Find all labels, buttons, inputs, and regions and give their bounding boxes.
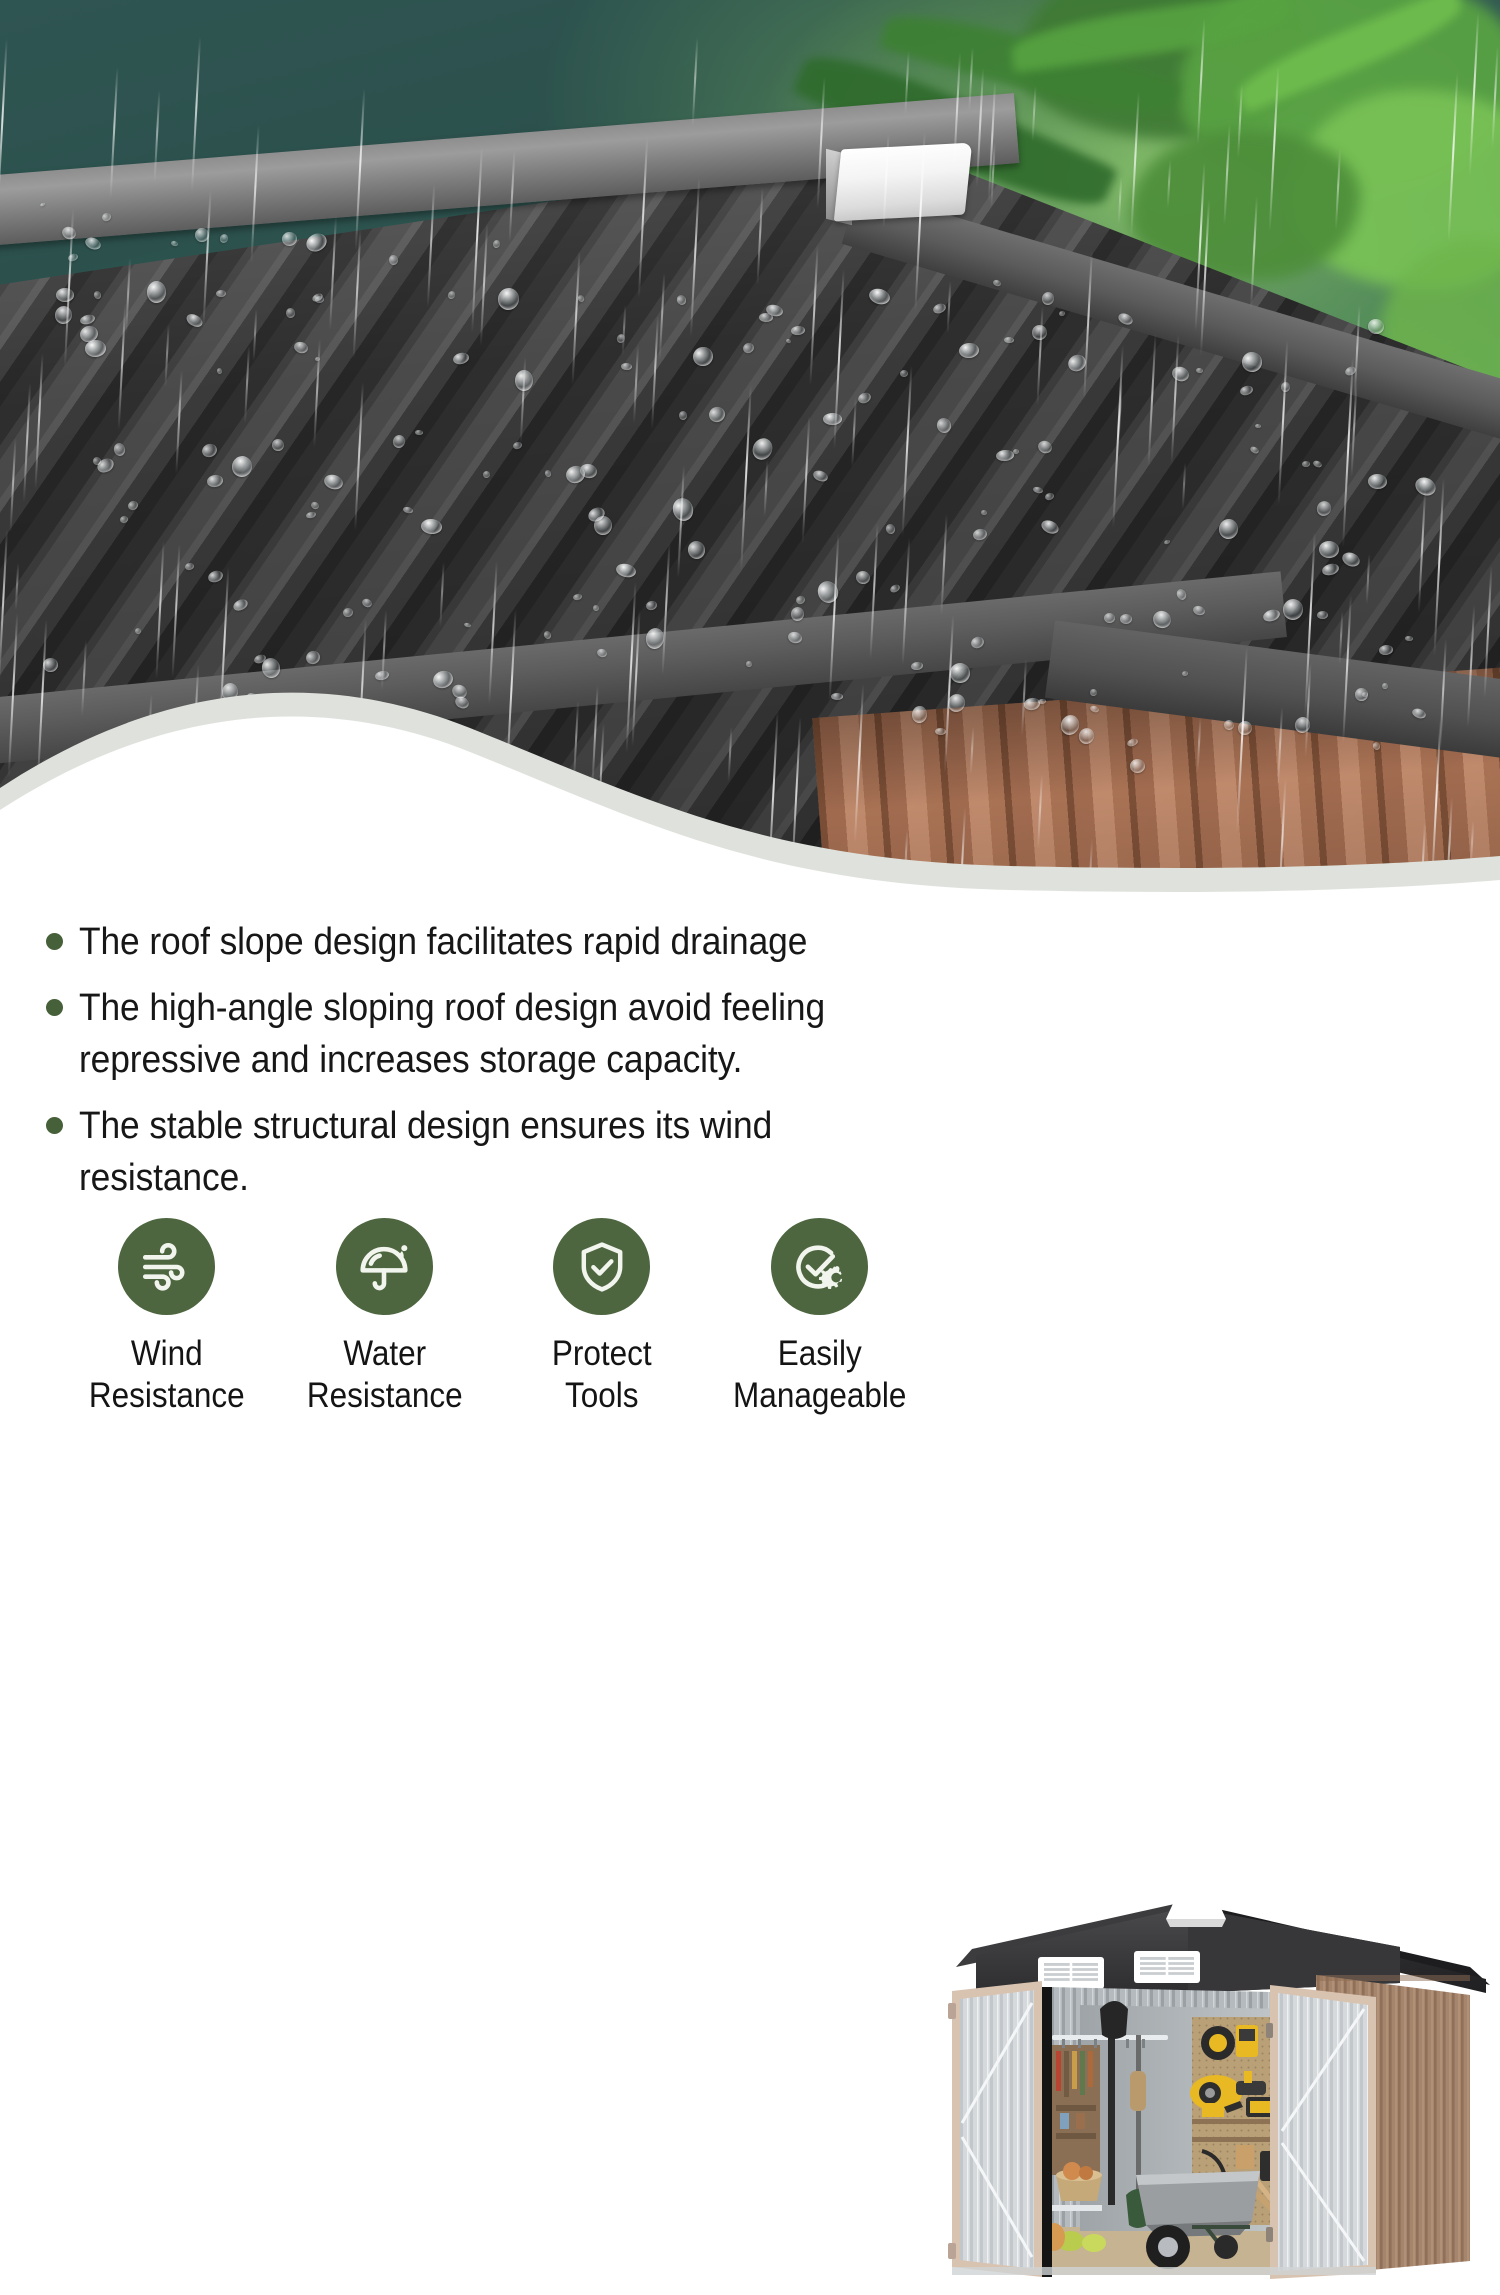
product-shed-image [930,1875,1490,2295]
bullet-dot-icon [46,933,63,950]
feature-icon-row: Wind Resistance Water Resistance [58,1218,928,1417]
bullet-text: The roof slope design facilitates rapid … [79,916,807,968]
wind-icon [118,1218,215,1315]
content-section: The roof slope design facilitates rapid … [0,900,1500,1433]
hero-image [0,0,1500,900]
shed-door-left [948,1981,1042,2277]
feature-label-line2: Tools [504,1375,700,1417]
shed-door-right [1266,1985,1376,2279]
feature-water-resistance: Water Resistance [276,1218,494,1417]
feature-easily-manageable: Easily Manageable [711,1218,929,1417]
feature-protect-tools: Protect Tools [493,1218,711,1417]
bullet-dot-icon [46,999,63,1016]
list-item: The high-angle sloping roof design avoid… [46,982,976,1086]
shed-base-trim [952,2267,1376,2275]
feature-label-line2: Manageable [721,1375,917,1417]
ridge-cap-shadow [1166,1919,1226,1927]
side-wall-top-trim [1316,1975,1470,1981]
feature-label-line2: Resistance [69,1375,265,1417]
ridge-cap [1166,1897,1226,1919]
umbrella-rain-icon [336,1218,433,1315]
roof-vent-left [1038,1957,1104,1989]
roof-vent-right [1134,1951,1200,1983]
gear-check-icon [771,1218,868,1315]
bullet-text: The stable structural design ensures its… [79,1100,913,1204]
feature-label-line1: Easily [721,1333,917,1375]
feature-wind-resistance: Wind Resistance [58,1218,276,1417]
feature-label-line1: Wind [69,1333,265,1375]
shield-check-icon [553,1218,650,1315]
list-item: The stable structural design ensures its… [46,1100,976,1204]
feature-bullet-list: The roof slope design facilitates rapid … [46,916,976,1218]
list-item: The roof slope design facilitates rapid … [46,916,976,968]
feature-label-line1: Water [286,1333,482,1375]
feature-label-line2: Resistance [286,1375,482,1417]
bullet-dot-icon [46,1117,63,1134]
gable-cap [834,143,973,222]
wave-divider [0,670,1500,900]
door-opening-shadow [1042,1987,1052,2277]
feature-label-line1: Protect [504,1333,700,1375]
bullet-text: The high-angle sloping roof design avoid… [79,982,913,1086]
